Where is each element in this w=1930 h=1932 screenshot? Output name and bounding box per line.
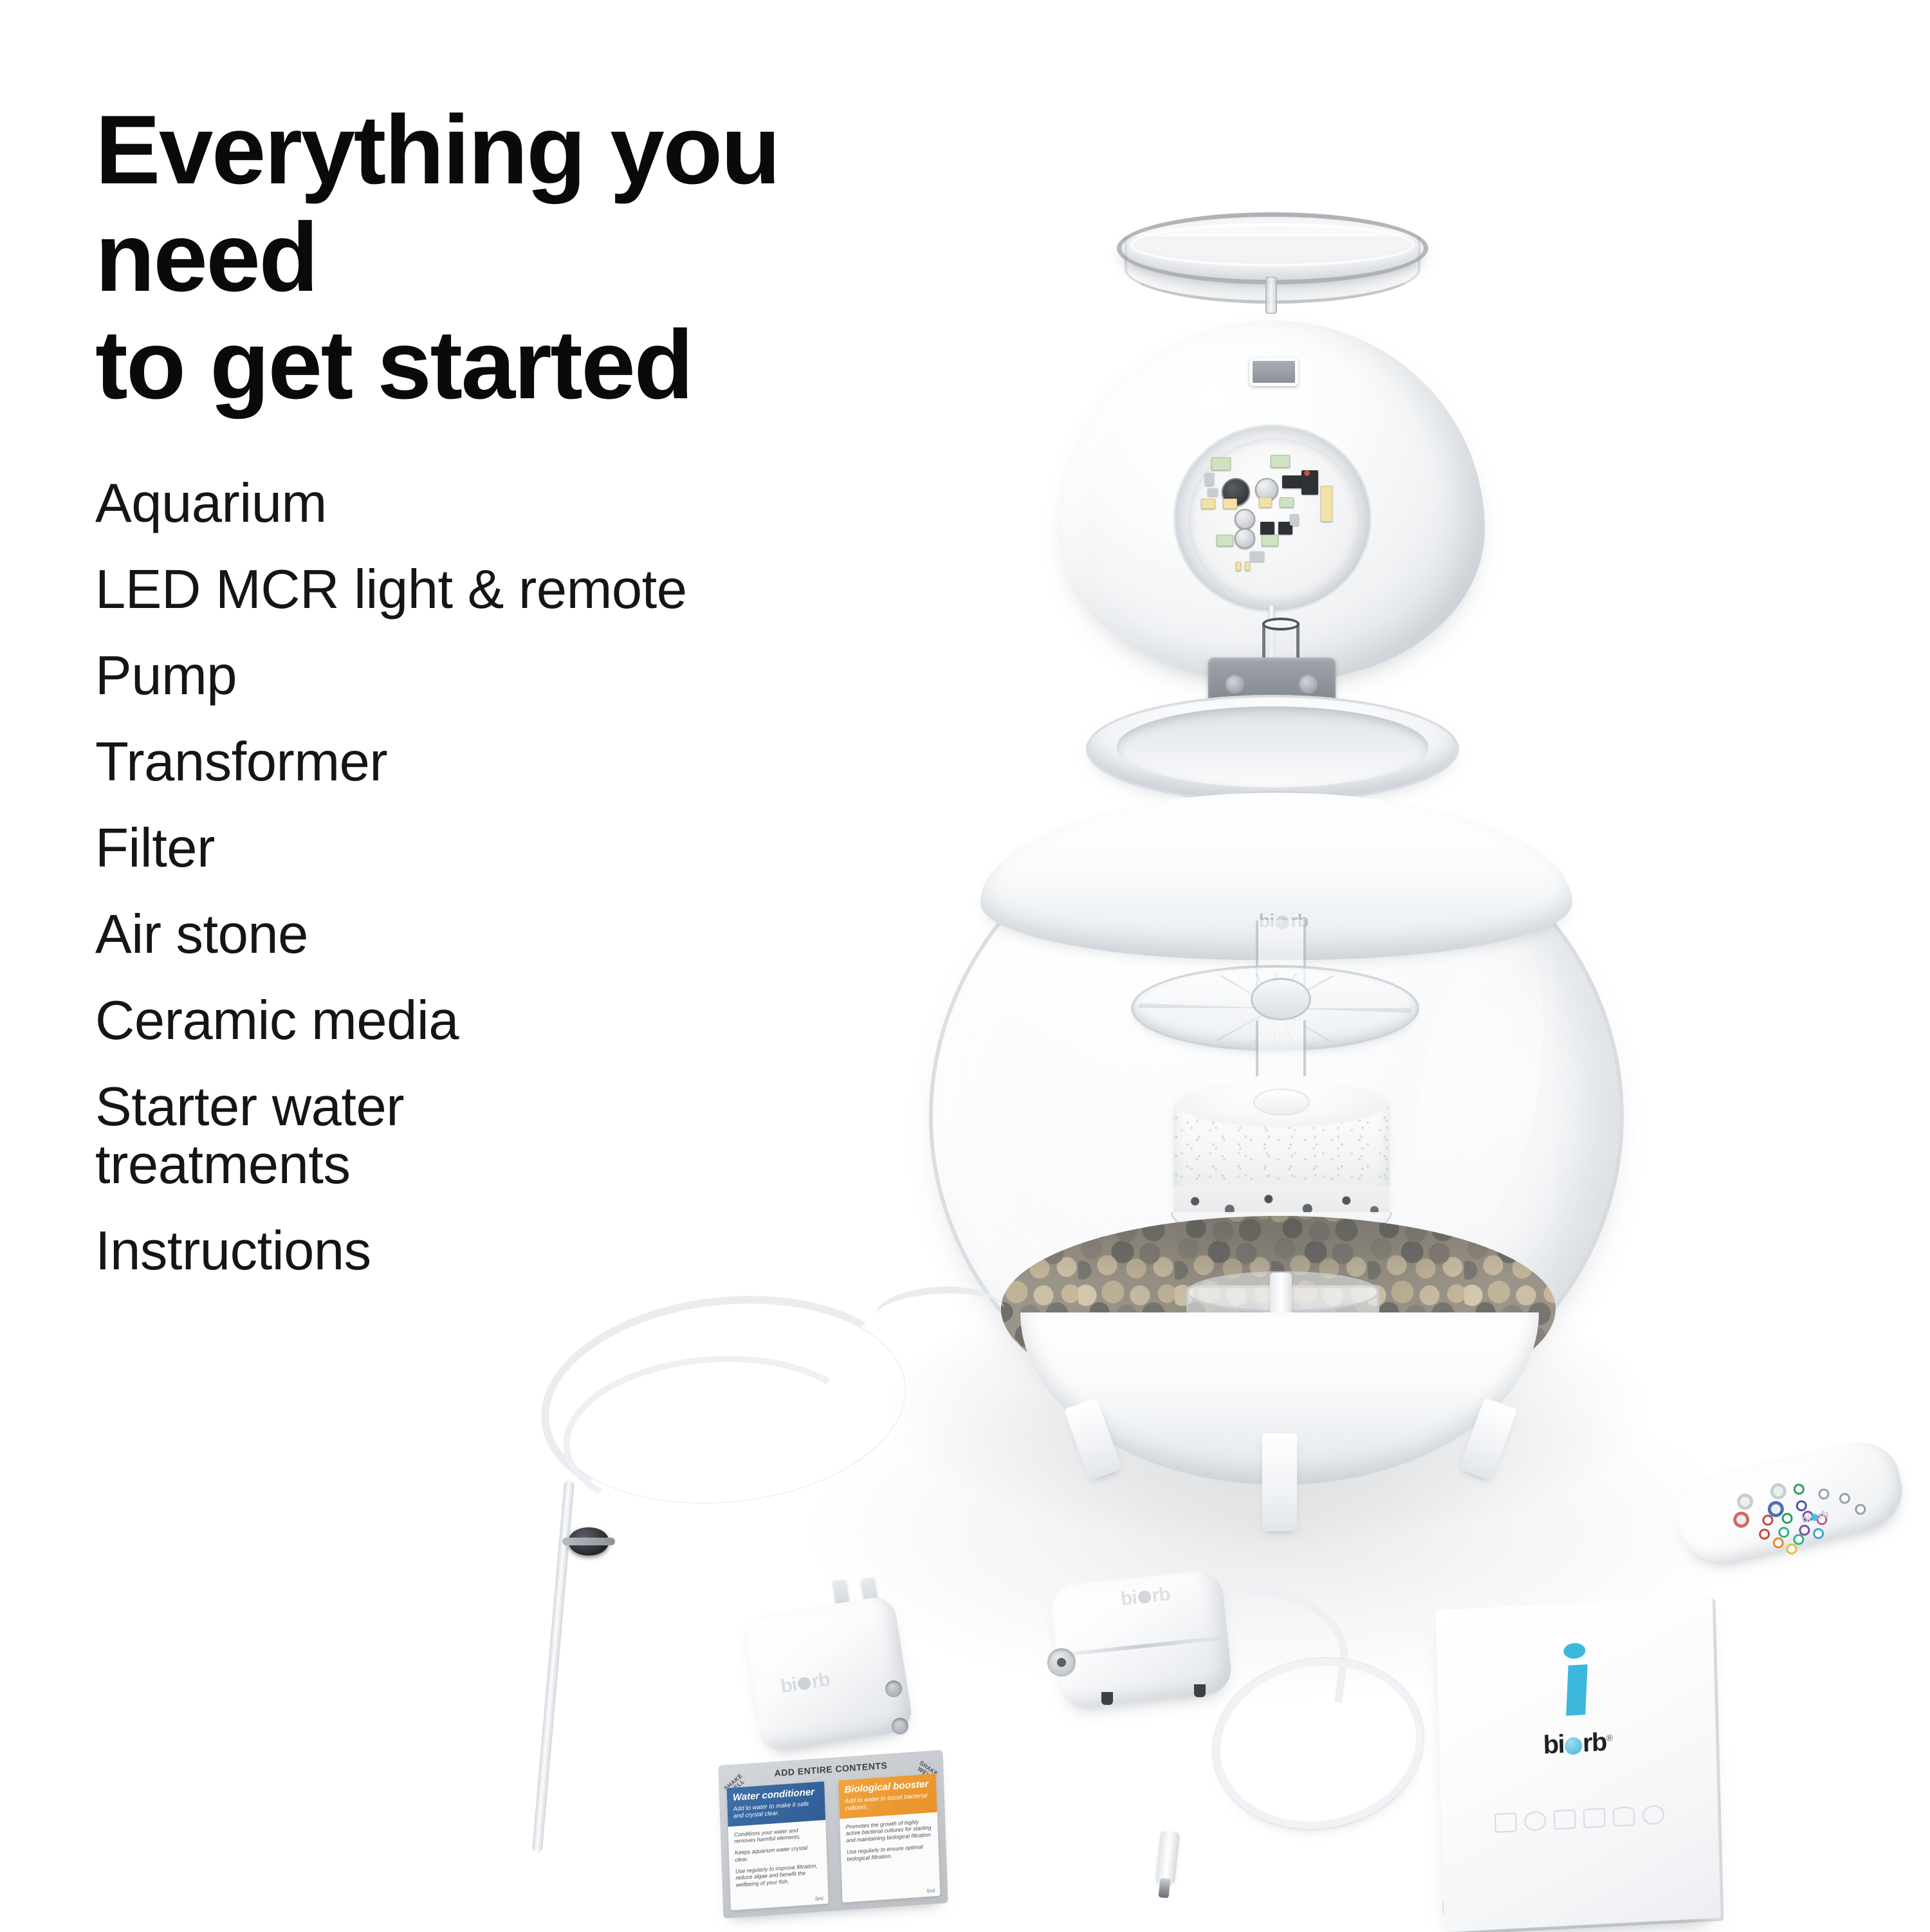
collar-latch [1260, 796, 1302, 831]
sachet-title: Water conditioner [733, 1787, 819, 1803]
air-line-coil-outer [530, 1278, 923, 1529]
globe-highlight [975, 816, 1212, 1088]
air-line-valve [569, 1527, 609, 1556]
list-item: Transformer [95, 733, 899, 791]
pump-power-plug [1155, 1830, 1180, 1885]
dome-lid [1060, 320, 1485, 681]
booklet-biorb-logo: birb® [1439, 1722, 1716, 1766]
sachet-subtitle: Add to water to boost bacterial cultures… [845, 1792, 931, 1812]
kit-contents-list: Aquarium LED MCR light & remote Pump Tra… [95, 475, 899, 1281]
led-light-recess [1173, 425, 1372, 612]
pump-foot [1101, 1692, 1113, 1705]
bubbler-cup [1186, 1285, 1379, 1396]
sachet-title: Biological booster [844, 1779, 930, 1796]
instructions-booklet: birb® [1436, 1596, 1721, 1932]
transformer-socket-1 [885, 1680, 902, 1697]
led-remote-control [1669, 1433, 1910, 1571]
booklet-tank-shape-icons [1441, 1802, 1718, 1836]
media-tray-spokes [1139, 973, 1411, 1044]
sachet-volume: 5ml [926, 1888, 935, 1894]
filter-cartridge-top [1173, 1076, 1390, 1127]
pump-cord-arc [1202, 1581, 1356, 1702]
booklet-page-edge [1442, 1887, 1716, 1915]
media-tray-hub [1251, 978, 1311, 1020]
intake-tube-upper [1256, 920, 1306, 996]
bubbler-grate [1206, 1339, 1360, 1392]
list-item: Starter water treatments [95, 1078, 899, 1194]
transformer-pins [832, 1572, 901, 1632]
dome-clip [1249, 358, 1298, 386]
sachet-bullet: Use regularly to ensure optimal biologic… [847, 1843, 933, 1863]
globe-rim-highlight [1395, 919, 1565, 1256]
funnel-biorb-logo: birb [1242, 910, 1325, 932]
filter-knob [1253, 1089, 1310, 1116]
list-item: Instructions [95, 1222, 899, 1280]
media-tray [1131, 965, 1419, 1051]
page-title: Everything you need to get started [95, 97, 899, 419]
list-item: Filter [95, 820, 899, 878]
transformer-plug [742, 1595, 914, 1754]
base-bowl [1020, 1312, 1539, 1485]
pump-air-nozzle [1047, 1648, 1076, 1677]
headline-line-2: to get started [95, 311, 899, 419]
base-leg-center [1262, 1433, 1297, 1531]
shake-well-note-right: SHAKE WELL [913, 1759, 941, 1783]
sachet-volume: 5ml [814, 1895, 823, 1902]
orb-mark-icon [1137, 1590, 1152, 1604]
lid-ring-skirt [1125, 237, 1420, 304]
base-leg-left [1063, 1397, 1122, 1480]
floor-shadow [888, 1274, 1647, 1544]
shake-well-note-left: SHAKE WELL [722, 1771, 749, 1798]
air-stone-tube [532, 1480, 574, 1852]
filter-base [1171, 1212, 1392, 1246]
sachet-biological-booster: Biological booster Add to water to boost… [838, 1774, 940, 1903]
list-item: Pump [95, 647, 899, 705]
pump-foot [1194, 1684, 1206, 1697]
orb-mark-icon [1275, 915, 1289, 930]
tank-halo-icon [1642, 1805, 1665, 1825]
headline-line-1: Everything you need [95, 95, 779, 312]
list-item: Air stone [95, 906, 899, 964]
information-i-icon [1562, 1642, 1594, 1715]
filter-carbon-layer [1173, 1186, 1390, 1224]
tank-tower-icon [1554, 1809, 1576, 1830]
sachet-bullet: Use regularly to improve filtration, red… [735, 1862, 822, 1889]
transformer-biorb-logo: birb [779, 1664, 853, 1700]
orb-mark-icon [1810, 1513, 1819, 1522]
tank-flow-icon [1583, 1808, 1606, 1828]
ceramic-media-bed [1001, 1216, 1556, 1409]
acrylic-globe [929, 791, 1624, 1441]
registered-mark: ® [1606, 1733, 1612, 1743]
pump-biorb-logo: birb [1119, 1580, 1199, 1611]
led-mcr-circuit-board [1188, 438, 1361, 603]
list-item: Aquarium [95, 475, 899, 533]
orb-mark-icon [796, 1676, 811, 1691]
lid-ring [1117, 212, 1428, 284]
intake-tube-lower [1256, 1020, 1306, 1096]
lid-ring-tab [1265, 277, 1277, 314]
base-leg-right [1458, 1397, 1517, 1480]
transformer-socket-2 [892, 1718, 908, 1734]
remote-biorb-logo: birb [1800, 1507, 1830, 1526]
air-line-entry [874, 1283, 1004, 1316]
bubbler-stem [1270, 1273, 1292, 1343]
tank-sphere-icon [1524, 1811, 1547, 1832]
air-line-coil-inner [558, 1346, 870, 1527]
sachet-water-conditioner: Water conditioner Add to water to make i… [726, 1781, 828, 1911]
air-pump [1049, 1569, 1234, 1710]
collar-ring-inner [1117, 706, 1428, 787]
orb-mark-icon [1565, 1737, 1583, 1755]
inner-funnel [980, 793, 1572, 960]
riser-tube-top [1262, 618, 1300, 630]
copy-column: Everything you need to get started Aquar… [95, 97, 899, 1281]
list-item: LED MCR light & remote [95, 561, 899, 619]
remote-button-grid [1669, 1433, 1910, 1571]
sachet-bullet: Promotes the growth of highly active bac… [845, 1817, 932, 1845]
pump-power-cord-loop [1199, 1641, 1438, 1845]
led-power-cord [1269, 605, 1274, 721]
sachet-subtitle: Add to water to make it safe and crystal… [733, 1800, 819, 1821]
sachet-header-text: ADD ENTIRE CONTENTS [719, 1756, 944, 1782]
filter-cartridge [1173, 1094, 1390, 1216]
riser-tube [1262, 623, 1300, 835]
water-treatment-sachets: ADD ENTIRE CONTENTS SHAKE WELL SHAKE WEL… [718, 1750, 948, 1918]
pump-seam [1060, 1636, 1222, 1657]
bubbler-cup-rim [1186, 1271, 1379, 1312]
sachet-bullet: Conditions your water and removes harmfu… [734, 1825, 820, 1845]
page-root: Everything you need to get started Aquar… [0, 0, 1930, 1930]
list-item: Ceramic media [95, 992, 899, 1050]
tank-cube-icon [1494, 1812, 1517, 1833]
collar-ring [1086, 695, 1459, 803]
sachet-bullet: Keeps aquarium water crystal clear. [735, 1843, 821, 1863]
floor-shadow-outer [811, 1364, 1737, 1698]
tank-tube-icon [1613, 1806, 1635, 1826]
lid-hinge [1208, 658, 1336, 712]
